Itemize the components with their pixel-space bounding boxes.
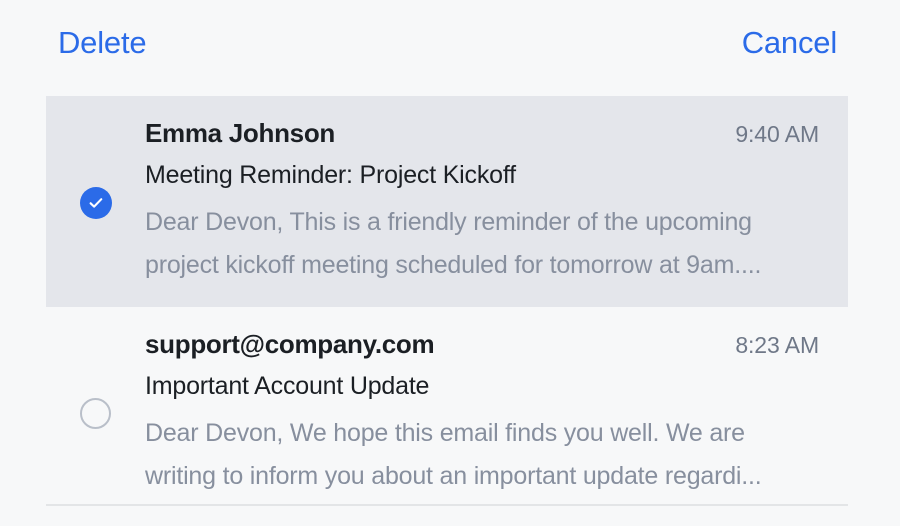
message-preview: Dear Devon, We hope this email finds you… (145, 412, 805, 498)
message-preview: Dear Devon, This is a friendly reminder … (145, 201, 805, 287)
selection-control[interactable] (46, 187, 145, 219)
message-row[interactable]: Emma Johnson 9:40 AM Meeting Reminder: P… (46, 96, 848, 307)
message-row[interactable]: support@company.com 8:23 AM Important Ac… (46, 307, 848, 518)
message-header-line: Emma Johnson 9:40 AM (145, 118, 819, 149)
message-content: support@company.com 8:23 AM Important Ac… (145, 329, 848, 498)
selection-control[interactable] (46, 398, 145, 429)
message-list: Emma Johnson 9:40 AM Meeting Reminder: P… (46, 96, 848, 518)
check-circle-filled-icon[interactable] (80, 187, 112, 219)
message-header-line: support@company.com 8:23 AM (145, 329, 819, 360)
action-bar: Delete Cancel (0, 0, 900, 84)
message-content: Emma Johnson 9:40 AM Meeting Reminder: P… (145, 118, 848, 287)
message-subject: Important Account Update (145, 372, 819, 401)
empty-circle-icon[interactable] (80, 398, 111, 429)
message-sender: support@company.com (145, 329, 434, 360)
list-divider (46, 504, 848, 506)
message-timestamp: 9:40 AM (735, 121, 819, 148)
message-sender: Emma Johnson (145, 118, 335, 149)
cancel-button[interactable]: Cancel (742, 27, 837, 58)
message-subject: Meeting Reminder: Project Kickoff (145, 161, 819, 190)
message-timestamp: 8:23 AM (735, 332, 819, 359)
delete-button[interactable]: Delete (58, 27, 146, 58)
